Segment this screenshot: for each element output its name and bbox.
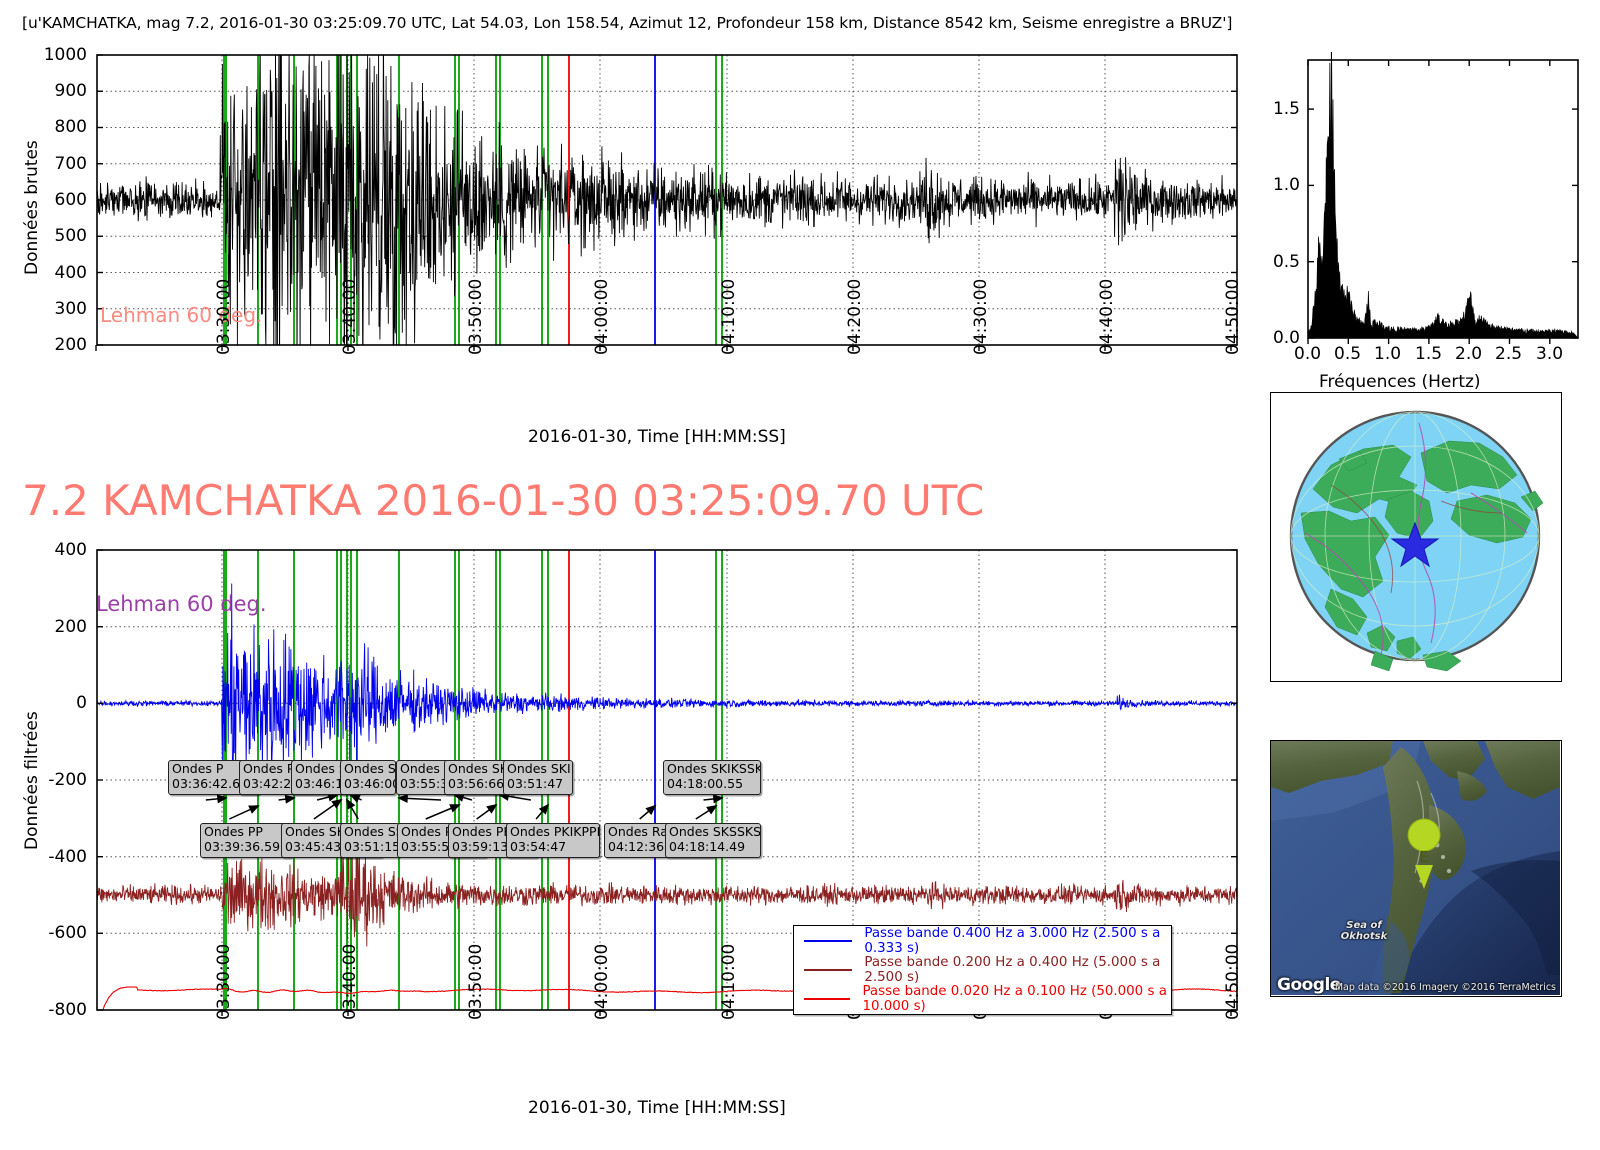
fft-plot — [1250, 52, 1600, 372]
raw-ytick-labels: 1000 900 800 700 600 500 400 300 200 — [0, 50, 95, 350]
legend-item-red: Passe bande 0.020 Hz a 0.100 Hz (50.000 … — [794, 985, 1171, 1014]
raw-xlabel: 2016-01-30, Time [HH:MM:SS] — [528, 427, 786, 447]
phase-annotation: Ondes SKSSKS04:18:14.49 — [665, 823, 761, 858]
phase-time: 04:18:00.55 — [667, 777, 757, 792]
phase-name: Ondes SKIKSSKIKS — [667, 762, 757, 777]
phase-name: Ondes PP — [204, 825, 288, 840]
filtered-xlabel: 2016-01-30, Time [HH:MM:SS] — [528, 1098, 786, 1118]
phase-annotation: Ondes SS03:51:15.63 — [340, 823, 400, 858]
raw-ylabel: Données brutes — [22, 140, 42, 275]
phase-time: 03:51:15.63 — [344, 840, 396, 855]
phase-time: 03:56:66 — [448, 777, 510, 792]
map-attribution: Map data ©2016 Imagery ©2016 TerraMetric… — [1335, 982, 1556, 993]
phase-annotation: Ondes PKIKPPKIKP03:54:47 — [506, 823, 600, 858]
phase-name: Ondes PKIKPPKIKP — [510, 825, 596, 840]
phase-time: 03:39:36.59 — [204, 840, 288, 855]
globe-panel — [1270, 392, 1562, 682]
map-panel: E Sea ofOkhotsk Google Map data ©2016 Im… — [1270, 740, 1562, 997]
phase-name: Ondes SKIKKIKP — [448, 762, 510, 777]
raw-xtick-labels: 03:30:00 03:40:00 03:50:00 04:00:00 04:1… — [0, 355, 1250, 435]
fft-xlabel: Fréquences (Hertz) — [1319, 372, 1481, 392]
phase-name: Ondes SKSSKS — [669, 825, 757, 840]
legend-swatch-brown — [804, 969, 852, 971]
svg-text:E: E — [1419, 848, 1428, 866]
legend-label-blue: Passe bande 0.400 Hz a 3.000 Hz (2.500 s… — [864, 926, 1171, 956]
filtered-xtick-labels: 03:30:00 03:40:00 03:50:00 04:00:00 04:1… — [0, 1020, 1250, 1100]
raw-station-label: Lehman 60 deg. — [100, 303, 262, 327]
event-banner: 7.2 KAMCHATKA 2016-01-30 03:25:09.70 UTC — [22, 476, 984, 525]
phase-annotation: Ondes SKIKKIKS03:51:47 — [503, 760, 573, 795]
legend-label-brown: Passe bande 0.200 Hz a 0.400 Hz (5.000 s… — [864, 955, 1171, 985]
google-logo: Google — [1277, 975, 1341, 995]
filtered-ylabel: Données filtrées — [22, 711, 42, 850]
sea-of-okhotsk-label: Sea ofOkhotsk — [1329, 921, 1399, 942]
phase-name: Ondes SS — [344, 825, 396, 840]
legend-swatch-red — [804, 998, 850, 1000]
phase-time: 03:51:47 — [507, 777, 569, 792]
page-title: [u'KAMCHATKA, mag 7.2, 2016-01-30 03:25:… — [22, 14, 1232, 32]
legend-item-brown: Passe bande 0.200 Hz a 0.400 Hz (5.000 s… — [794, 955, 1171, 984]
legend-item-blue: Passe bande 0.400 Hz a 3.000 Hz (2.500 s… — [794, 926, 1171, 955]
legend-label-red: Passe bande 0.020 Hz a 0.100 Hz (50.000 … — [862, 984, 1171, 1014]
phase-annotation: Ondes SKS03:46:00 — [340, 760, 396, 795]
phase-time: 03:46:00 — [344, 777, 392, 792]
annotation-arrows — [206, 793, 722, 819]
map-graphic: E — [1271, 741, 1560, 995]
filtered-station-label: Lehman 60 deg. — [96, 592, 267, 616]
filter-legend: Passe bande 0.400 Hz a 3.000 Hz (2.500 s… — [793, 925, 1172, 1015]
phase-annotation: Ondes PP03:39:36.59 — [200, 823, 292, 858]
globe-graphic — [1271, 393, 1560, 680]
phase-time: 04:18:14.49 — [669, 840, 757, 855]
phase-name: Ondes SKS — [344, 762, 392, 777]
phase-name: Ondes SKIKKIKS — [507, 762, 569, 777]
fft-spectrum-curve — [1308, 52, 1578, 338]
phase-time: 03:54:47 — [510, 840, 596, 855]
waveform-bandpass-blue — [97, 584, 1237, 785]
phase-annotation: Ondes SKIKSSKIKS04:18:00.55 — [663, 760, 761, 795]
legend-swatch-blue — [804, 940, 852, 942]
